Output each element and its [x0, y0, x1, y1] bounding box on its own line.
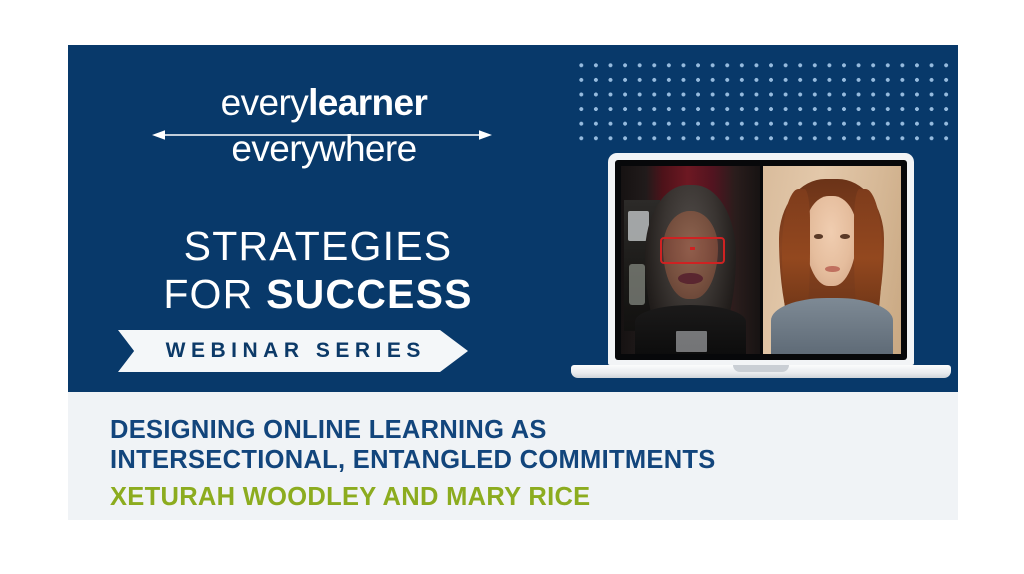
footer-panel: DESIGNING ONLINE LEARNING AS INTERSECTIO…: [68, 392, 958, 520]
double-headed-arrow-icon: [152, 129, 492, 141]
laptop-lid: [608, 153, 914, 365]
laptop-screen: [615, 160, 907, 360]
tile-two-gray-top: [771, 298, 893, 354]
tile-one-shelf-object-bottom: [629, 264, 644, 305]
tile-one-red-eyeglasses: [660, 237, 725, 264]
video-tile-speaker-one: [621, 166, 760, 354]
logo-word-every: every: [221, 82, 308, 123]
tile-two-eye-left: [814, 234, 824, 239]
footer-text-block: DESIGNING ONLINE LEARNING AS INTERSECTIO…: [110, 415, 938, 512]
laptop-mockup: [571, 153, 951, 390]
logo-word-learner: learner: [308, 82, 427, 123]
webinar-series-ribbon: WEBINAR SERIES: [118, 330, 468, 372]
ribbon-label: WEBINAR SERIES: [160, 339, 426, 363]
dot-grid-decoration: [572, 56, 958, 146]
tile-one-shirt-print: [676, 331, 706, 352]
promo-graphic-canvas: everylearner everywhere STRATEGIES FOR S…: [0, 0, 1024, 574]
headline-line-1: STRATEGIES: [68, 222, 568, 270]
laptop-base-notch: [733, 365, 789, 372]
headline-word-success: SUCCESS: [266, 271, 473, 317]
footer-title-line-2: INTERSECTIONAL, ENTANGLED COMMITMENTS: [110, 445, 938, 475]
headline-line-2: FOR SUCCESS: [68, 270, 568, 318]
footer-title-line-1: DESIGNING ONLINE LEARNING AS: [110, 415, 938, 445]
video-tile-speaker-two: [763, 166, 902, 354]
headline-word-for: FOR: [163, 271, 266, 317]
tile-two-eye-right: [840, 234, 850, 239]
hero-panel: everylearner everywhere STRATEGIES FOR S…: [68, 45, 958, 392]
logo-top-line: everylearner: [152, 83, 492, 123]
footer-presenters: XETURAH WOODLEY AND MARY RICE: [110, 482, 938, 512]
hero-headline: STRATEGIES FOR SUCCESS: [68, 222, 568, 318]
brand-logo: everylearner everywhere: [152, 83, 492, 193]
